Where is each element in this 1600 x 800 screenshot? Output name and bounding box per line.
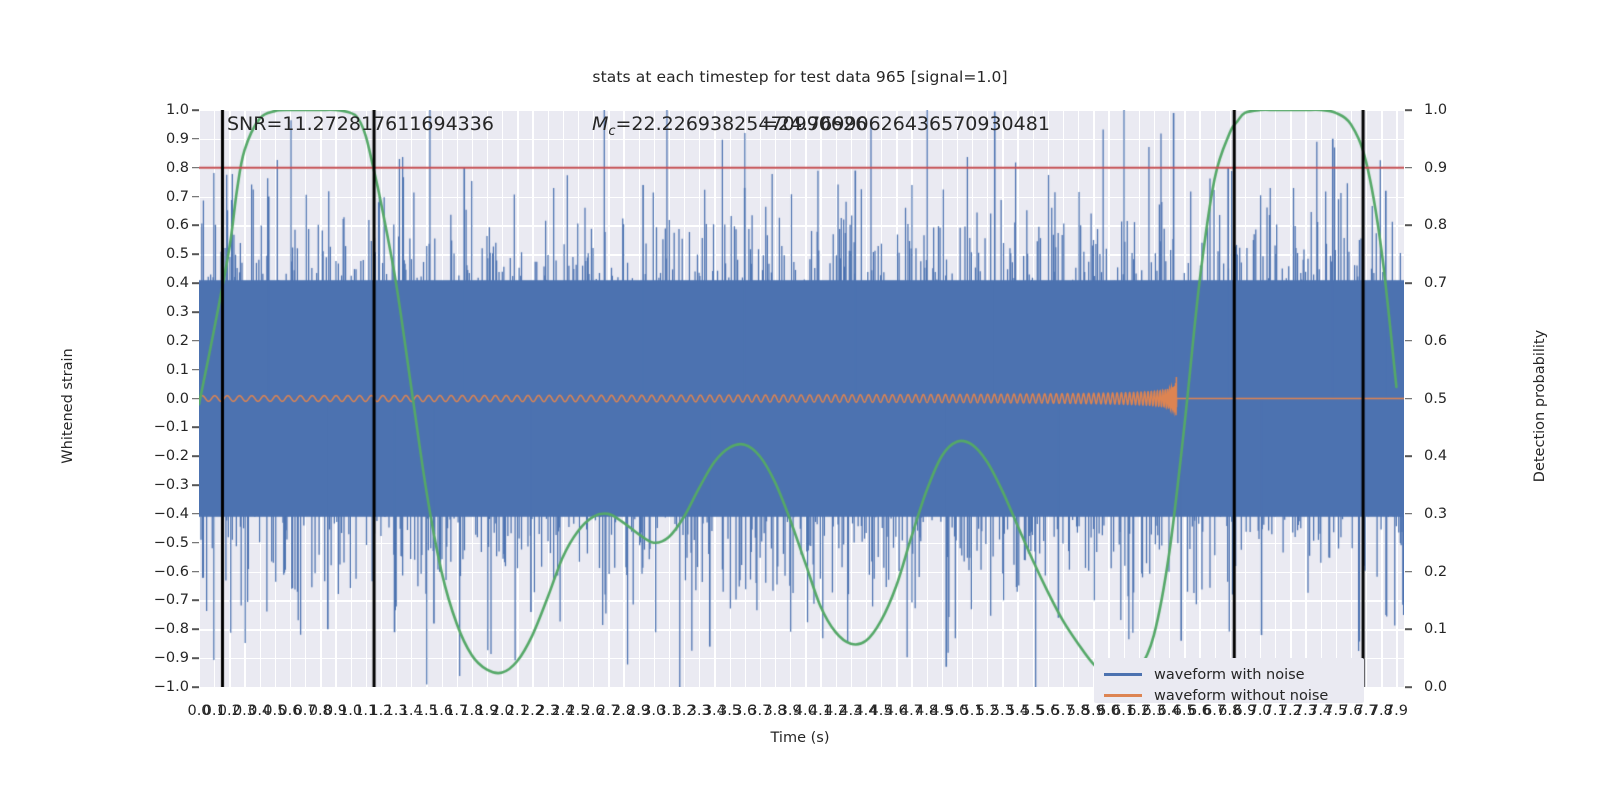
- y-axis-right-tick-mark: [1405, 167, 1412, 169]
- y-axis-left-tick-mark: [192, 600, 199, 602]
- y-axis-left-tick-label: 0.8: [0, 160, 189, 176]
- y-axis-left-tick-mark: [192, 571, 199, 573]
- legend-label: waveform with noise: [1154, 667, 1305, 683]
- y-axis-left-tick-label: 1.0: [0, 102, 189, 118]
- y-axis-right-label: Detection probability: [1532, 256, 1548, 556]
- plot-area: SNR=11.272817611694336 Mc=22.22693825470…: [199, 110, 1404, 687]
- y-axis-right-tick-label: 0.0: [1424, 679, 1544, 695]
- y-axis-right-tick-mark: [1405, 398, 1412, 400]
- y-axis-left-tick-label: 0.1: [0, 362, 189, 378]
- y-axis-right-tick-label: 0.1: [1424, 621, 1544, 637]
- y-axis-left-tick-mark: [192, 686, 199, 688]
- y-axis-left-tick-mark: [192, 282, 199, 284]
- y-axis-right-tick-label: 0.3: [1424, 506, 1544, 522]
- y-axis-left-tick-label: 0.6: [0, 217, 189, 233]
- y-axis-left-tick-mark: [192, 484, 199, 486]
- y-axis-left-tick-label: 0.7: [0, 189, 189, 205]
- y-axis-left-tick-mark: [192, 196, 199, 198]
- legend-item: waveform without noise: [1104, 685, 1354, 706]
- y-axis-left-tick-mark: [192, 629, 199, 631]
- y-axis-right-tick-mark: [1405, 571, 1412, 573]
- y-axis-right-tick-label: 0.9: [1424, 160, 1544, 176]
- y-axis-left-tick-mark: [192, 167, 199, 169]
- y-axis-left-tick-label: −1.0: [0, 679, 189, 695]
- chart-title: stats at each timestep for test data 965…: [0, 68, 1600, 86]
- y-axis-right-tick-mark: [1405, 340, 1412, 342]
- y-axis-right-tick-mark: [1405, 513, 1412, 515]
- y-axis-left-tick-mark: [192, 225, 199, 227]
- legend: waveform with noise waveform without noi…: [1094, 658, 1364, 703]
- plot-canvas: [199, 110, 1404, 687]
- y-axis-right-tick-label: 0.5: [1424, 391, 1544, 407]
- y-axis-left-tick-label: 0.4: [0, 275, 189, 291]
- y-axis-left-tick-label: −0.4: [0, 506, 189, 522]
- y-axis-left-tick-mark: [192, 513, 199, 515]
- y-axis-left-tick-label: 0.9: [0, 131, 189, 147]
- y-axis-left-tick-mark: [192, 138, 199, 140]
- y-axis-left-tick-mark: [192, 427, 199, 429]
- y-axis-left-tick-mark: [192, 455, 199, 457]
- y-axis-right-tick-label: 0.2: [1424, 564, 1544, 580]
- y-axis-left-tick-label: −0.8: [0, 621, 189, 637]
- y-axis-right-tick-label: 0.6: [1424, 333, 1544, 349]
- y-axis-left-tick-label: −0.3: [0, 477, 189, 493]
- y-axis-right-tick-mark: [1405, 109, 1412, 111]
- y-axis-left-tick-label: −0.9: [0, 650, 189, 666]
- y-axis-left-tick-mark: [192, 398, 199, 400]
- y-axis-left-tick-mark: [192, 369, 199, 371]
- y-axis-left-tick-mark: [192, 340, 199, 342]
- y-axis-left-tick-label: −0.7: [0, 592, 189, 608]
- y-axis-left-tick-label: 0.5: [0, 246, 189, 262]
- legend-line-icon: [1104, 673, 1142, 676]
- y-axis-right-tick-label: 0.4: [1424, 448, 1544, 464]
- y-axis-left-tick-label: −0.5: [0, 535, 189, 551]
- y-axis-left-tick-label: −0.1: [0, 419, 189, 435]
- x-axis-label: Time (s): [0, 730, 1600, 746]
- mc-symbol: Mc: [592, 113, 616, 135]
- y-axis-left-tick-label: 0.0: [0, 391, 189, 407]
- legend-label: waveform without noise: [1154, 688, 1328, 704]
- snr-annotation: SNR=11.272817611694336: [227, 113, 494, 135]
- y-axis-left-tick-label: 0.2: [0, 333, 189, 349]
- figure-canvas: stats at each timestep for test data 965…: [0, 0, 1600, 800]
- x-axis-tick-label: 7.9: [1385, 703, 1408, 719]
- y-axis-left-tick-label: 0.3: [0, 304, 189, 320]
- y-axis-left-tick-mark: [192, 253, 199, 255]
- y-axis-right-tick-label: 1.0: [1424, 102, 1544, 118]
- y-axis-left-tick-mark: [192, 542, 199, 544]
- y-axis-right-tick-mark: [1405, 629, 1412, 631]
- y-axis-right-tick-mark: [1405, 686, 1412, 688]
- legend-line-icon: [1104, 694, 1142, 697]
- y-axis-right-tick-mark: [1405, 282, 1412, 284]
- y-axis-left-tick-label: −0.6: [0, 564, 189, 580]
- y-axis-right-tick-label: 0.7: [1424, 275, 1544, 291]
- y-axis-left-tick-label: −0.2: [0, 448, 189, 464]
- y-axis-right-tick-mark: [1405, 455, 1412, 457]
- y-axis-left-tick-mark: [192, 657, 199, 659]
- chirp-mass-overlap-annotation: =24.76990626436570930481: [762, 113, 1050, 135]
- legend-item: waveform with noise: [1104, 664, 1354, 685]
- y-axis-right-tick-mark: [1405, 225, 1412, 227]
- y-axis-right-tick-label: 0.8: [1424, 217, 1544, 233]
- y-axis-left-tick-mark: [192, 109, 199, 111]
- y-axis-left-tick-mark: [192, 311, 199, 313]
- y-axis-left-label: Whitened strain: [60, 276, 76, 536]
